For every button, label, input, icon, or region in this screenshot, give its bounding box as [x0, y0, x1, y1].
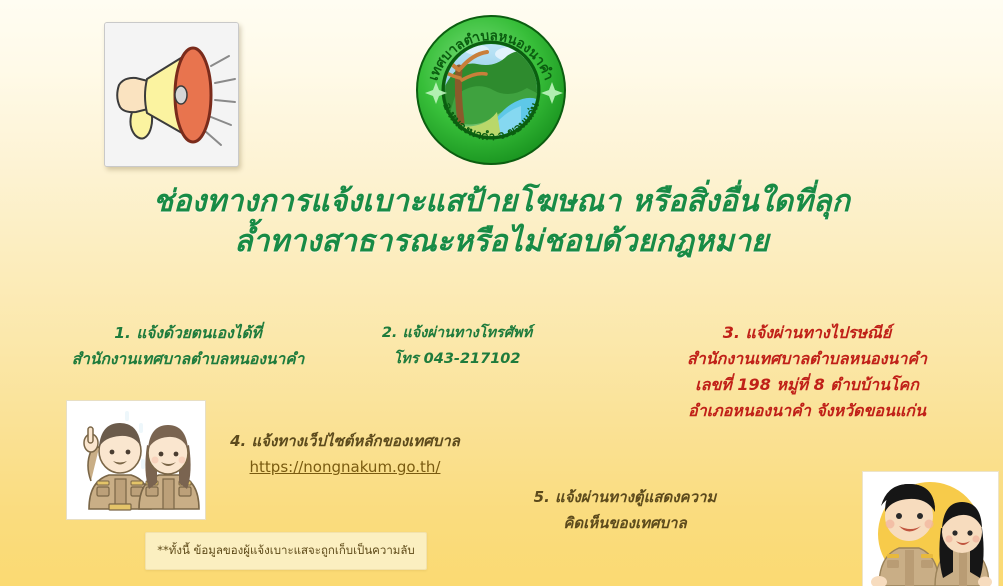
- title-line-1: ช่องทางการแจ้งเบาะแสป้ายโฆษณา หรือสิ่งอื…: [153, 184, 850, 219]
- officials-couple-icon: [67, 401, 205, 519]
- website-link[interactable]: https://nongnakum.go.th/: [250, 454, 441, 480]
- channel-item-4: 4. แจ้งทางเว็ปไซต์หลักของเทศบาล https://…: [180, 428, 510, 480]
- officials-couple-circle-icon: [863, 472, 998, 586]
- channel-item-5: 5. แจ้งผ่านทางตู้แสดงความ คิดเห็นของเทศบ…: [490, 484, 760, 536]
- channel-4-heading: 4. แจ้งทางเว็ปไซต์หลักของเทศบาล: [180, 428, 510, 454]
- poster-canvas: เทศบาลตำบลหนองนาคำ อ.หนองนาคำ จ.ขอนแก่น …: [0, 0, 1003, 586]
- municipality-seal-icon: เทศบาลตำบลหนองนาคำ อ.หนองนาคำ จ.ขอนแก่น: [415, 14, 567, 166]
- channel-3-heading: 3. แจ้งผ่านทางไปรษณีย์: [612, 320, 1002, 346]
- megaphone-icon: [105, 23, 238, 166]
- municipality-emblem: เทศบาลตำบลหนองนาคำ อ.หนองนาคำ จ.ขอนแก่น: [415, 14, 567, 166]
- channel-5-line-1: คิดเห็นของเทศบาล: [490, 510, 760, 536]
- officials-couple-card-right: [862, 471, 999, 586]
- channel-item-1: 1. แจ้งด้วยตนเองได้ที่ สำนักงานเทศบาลตำบ…: [48, 320, 328, 372]
- channel-3-line-2: เลขที่ 198 หมู่ที่ 8 ตำบบ้านโคก: [612, 372, 1002, 398]
- title-line-2: ล้ำทางสาธารณะหรือไม่ชอบด้วยกฎหมาย: [0, 222, 1003, 262]
- confidentiality-note: **ทั้งนี้ ข้อมูลของผู้แจ้งเบาะแสจะถูกเก็…: [145, 532, 427, 570]
- channel-2-heading: 2. แจ้งผ่านทางโทรศัพท์: [352, 320, 562, 346]
- channel-item-2: 2. แจ้งผ่านทางโทรศัพท์ โทร 043-217102: [352, 320, 562, 372]
- channel-5-heading: 5. แจ้งผ่านทางตู้แสดงความ: [490, 484, 760, 510]
- channel-1-line-1: สำนักงานเทศบาลตำบลหนองนาคำ: [48, 346, 328, 372]
- officials-couple-card-left: [66, 400, 206, 520]
- channel-1-heading: 1. แจ้งด้วยตนเองได้ที่: [48, 320, 328, 346]
- poster-title: ช่องทางการแจ้งเบาะแสป้ายโฆษณา หรือสิ่งอื…: [0, 182, 1003, 262]
- megaphone-card: [104, 22, 239, 167]
- channel-3-line-1: สำนักงานเทศบาลตำบลหนองนาคำ: [612, 346, 1002, 372]
- channel-2-phone: โทร 043-217102: [352, 346, 562, 372]
- channel-item-3: 3. แจ้งผ่านทางไปรษณีย์ สำนักงานเทศบาลตำบ…: [612, 320, 1002, 424]
- channel-3-line-3: อำเภอหนองนาคำ จังหวัดขอนแก่น: [612, 398, 1002, 424]
- confidentiality-note-text: **ทั้งนี้ ข้อมูลของผู้แจ้งเบาะแสจะถูกเก็…: [157, 542, 414, 560]
